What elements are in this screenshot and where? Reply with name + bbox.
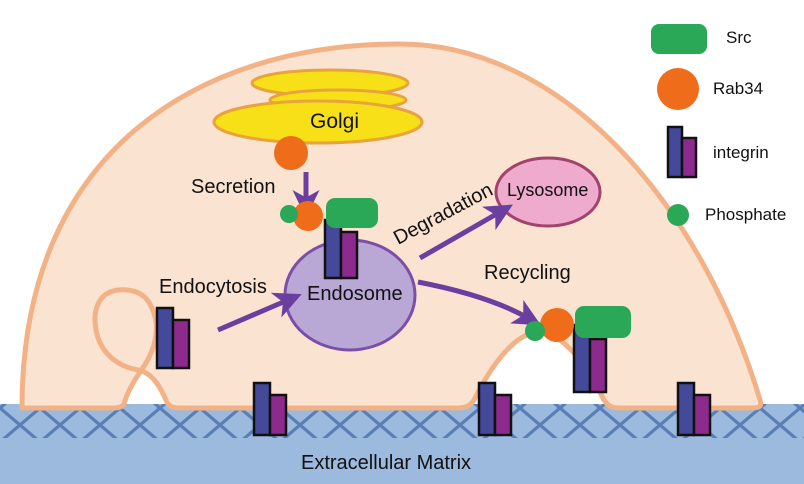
legend-label-integrin: integrin: [713, 143, 769, 163]
integrin-beta-subunit: [590, 339, 606, 392]
legend-integrin-alpha-icon: [668, 127, 682, 177]
rab34-vesicle-golgi: [274, 136, 308, 170]
integrin-beta-subunit: [495, 395, 511, 435]
integrin-alpha-subunit: [678, 383, 694, 435]
legend-integrin-beta-icon: [682, 138, 696, 177]
secretion-label: Secretion: [191, 176, 276, 199]
legend-rab34-icon: [657, 68, 699, 110]
integrin-alpha-subunit: [157, 308, 173, 368]
integrin-surface-2: [479, 383, 511, 435]
endocytosis-label: Endocytosis: [159, 276, 267, 299]
endosome-label: Endosome: [307, 283, 403, 306]
rab34-protein: [540, 308, 574, 342]
legend-label-phosphate: Phosphate: [705, 205, 786, 225]
phosphate-group: [525, 321, 545, 341]
recycling-label: Recycling: [484, 262, 571, 285]
extracellular-matrix-label: Extracellular Matrix: [301, 452, 471, 475]
legend-label-src: Src: [726, 28, 752, 48]
integrin-beta-subunit: [173, 320, 189, 368]
integrin-alpha-subunit: [254, 383, 270, 435]
legend-src-icon: [651, 24, 707, 54]
golgi-label: Golgi: [310, 110, 359, 134]
src-protein: [575, 306, 631, 338]
integrin-beta-subunit: [341, 232, 357, 278]
legend-label-rab34: Rab34: [713, 79, 763, 99]
phosphate-group: [280, 205, 298, 223]
integrin-beta-subunit: [270, 395, 286, 435]
integrin-alpha-subunit: [479, 383, 495, 435]
lysosome-label: Lysosome: [507, 180, 588, 201]
integrin-alpha-subunit: [325, 220, 341, 278]
diagram-canvas: Golgi Endosome Lysosome Secretion Endocy…: [0, 0, 804, 484]
legend-phosphate-icon: [667, 204, 689, 226]
src-protein: [326, 198, 378, 228]
integrin-beta-subunit: [694, 395, 710, 435]
